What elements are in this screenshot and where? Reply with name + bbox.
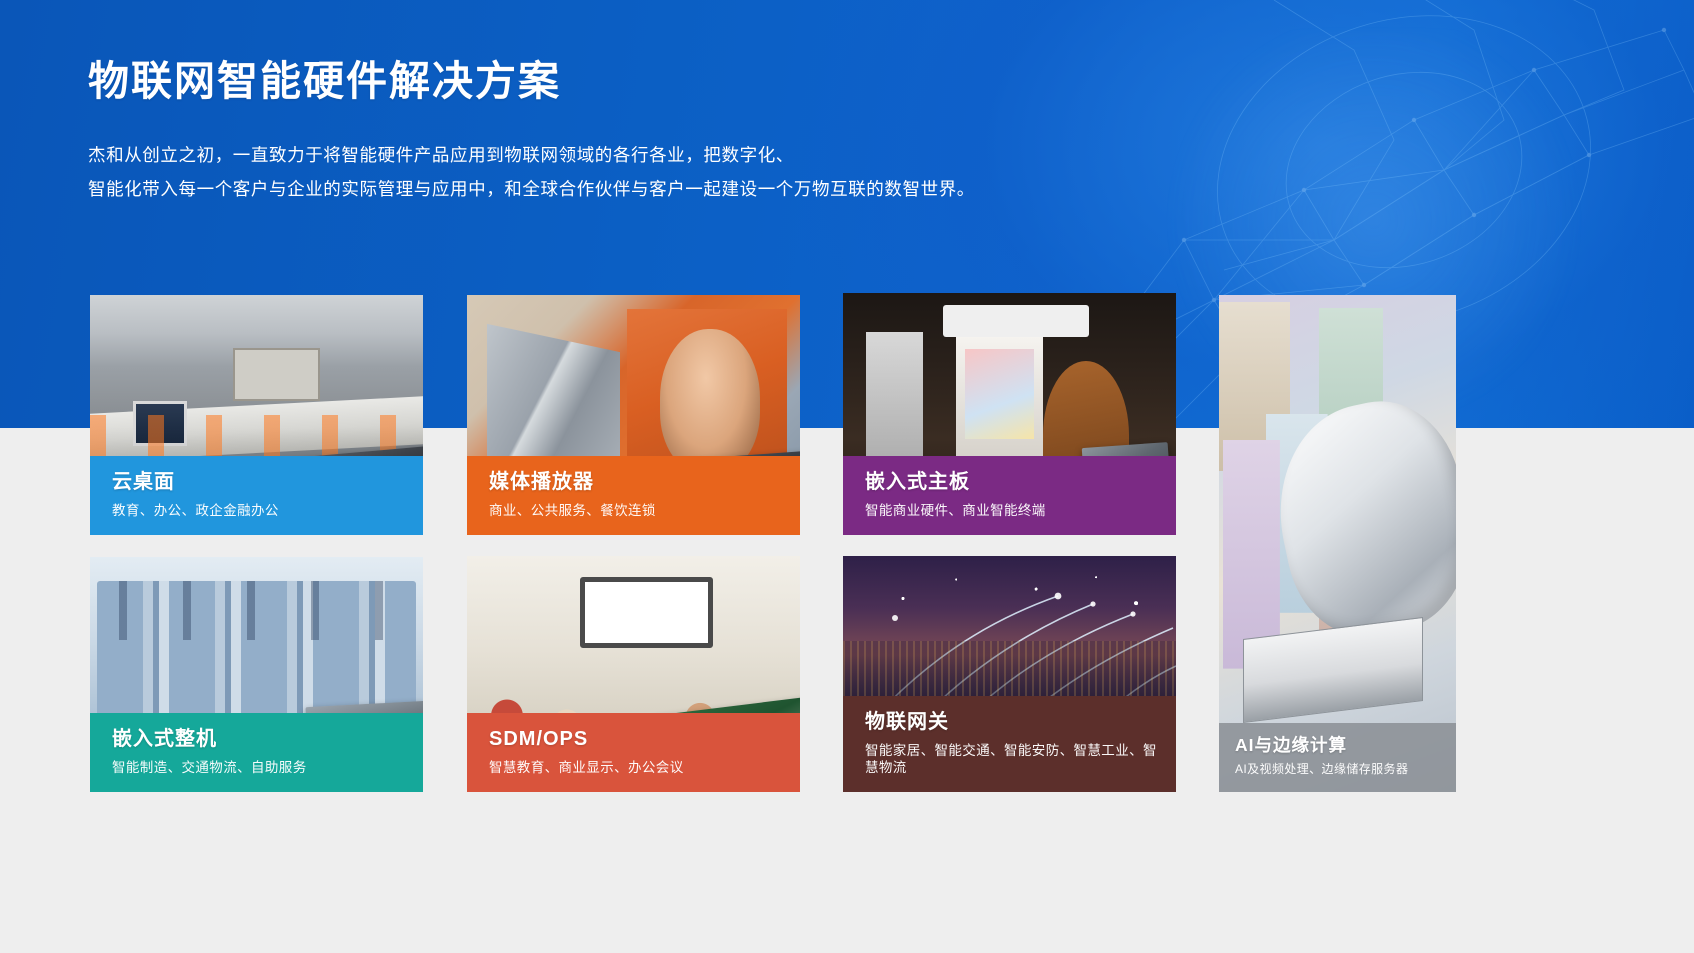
projector-screen	[233, 348, 320, 401]
card-subtitle: 智慧教育、商业显示、办公会议	[489, 759, 782, 777]
card-subtitle: 商业、公共服务、餐饮连锁	[489, 502, 782, 520]
card-caption: AI与边缘计算 AI及视频处理、边缘储存服务器	[1219, 723, 1456, 792]
solution-card-ai-edge-computing[interactable]: AI与边缘计算 AI及视频处理、边缘储存服务器	[1219, 295, 1456, 792]
card-title: 嵌入式整机	[112, 727, 405, 752]
card-title: AI与边缘计算	[1235, 735, 1442, 757]
interactive-whiteboard	[580, 577, 713, 648]
card-title: 媒体播放器	[489, 470, 782, 495]
card-title: SDM/OPS	[489, 727, 782, 752]
card-title: 物联网关	[865, 710, 1158, 735]
card-subtitle: AI及视频处理、边缘储存服务器	[1235, 762, 1442, 778]
order-here-sign	[943, 305, 1090, 336]
card-caption: 嵌入式整机 智能制造、交通物流、自助服务	[90, 713, 423, 792]
atm-machine-row	[97, 581, 417, 736]
card-subtitle: 教育、办公、政企金融办公	[112, 502, 405, 520]
card-caption: 媒体播放器 商业、公共服务、餐饮连锁	[467, 456, 800, 535]
kiosk-left	[866, 332, 923, 477]
card-subtitle: 智能商业硬件、商业智能终端	[865, 502, 1158, 520]
card-caption: 云桌面 教育、办公、政企金融办公	[90, 456, 423, 535]
solution-card-media-player[interactable]: Giada 媒体播放器 商业、公共服务、餐饮连锁	[467, 295, 800, 535]
solution-card-iot-gateway[interactable]: 物联网关 智能家居、智能交通、智能安防、智慧工业、智慧物流	[843, 556, 1176, 792]
solution-card-sdm-ops[interactable]: SDM/OPS 智慧教育、商业显示、办公会议	[467, 556, 800, 792]
card-caption: SDM/OPS 智慧教育、商业显示、办公会议	[467, 713, 800, 792]
card-subtitle: 智能家居、智能交通、智能安防、智慧工业、智慧物流	[865, 742, 1158, 777]
poster-person	[660, 329, 760, 473]
solution-card-grid: Giada 云桌面 教育、办公、政企金融办公 Giada 媒体播放器 商业、公共…	[0, 0, 1694, 953]
card-title: 云桌面	[112, 470, 405, 495]
card-caption: 物联网关 智能家居、智能交通、智能安防、智慧工业、智慧物流	[843, 696, 1176, 792]
desktop-monitor	[133, 401, 186, 447]
card-caption: 嵌入式主板 智能商业硬件、商业智能终端	[843, 456, 1176, 535]
solution-card-embedded-pc[interactable]: 嵌入式整机 智能制造、交通物流、自助服务	[90, 557, 423, 792]
solution-card-cloud-desktop[interactable]: Giada 云桌面 教育、办公、政企金融办公	[90, 295, 423, 535]
desk-row	[90, 397, 423, 462]
card-subtitle: 智能制造、交通物流、自助服务	[112, 759, 405, 777]
solution-card-embedded-motherboard[interactable]: 嵌入式主板 智能商业硬件、商业智能终端	[843, 293, 1176, 535]
card-title: 嵌入式主板	[865, 470, 1158, 495]
card-photo-digital-signage	[1219, 295, 1456, 792]
